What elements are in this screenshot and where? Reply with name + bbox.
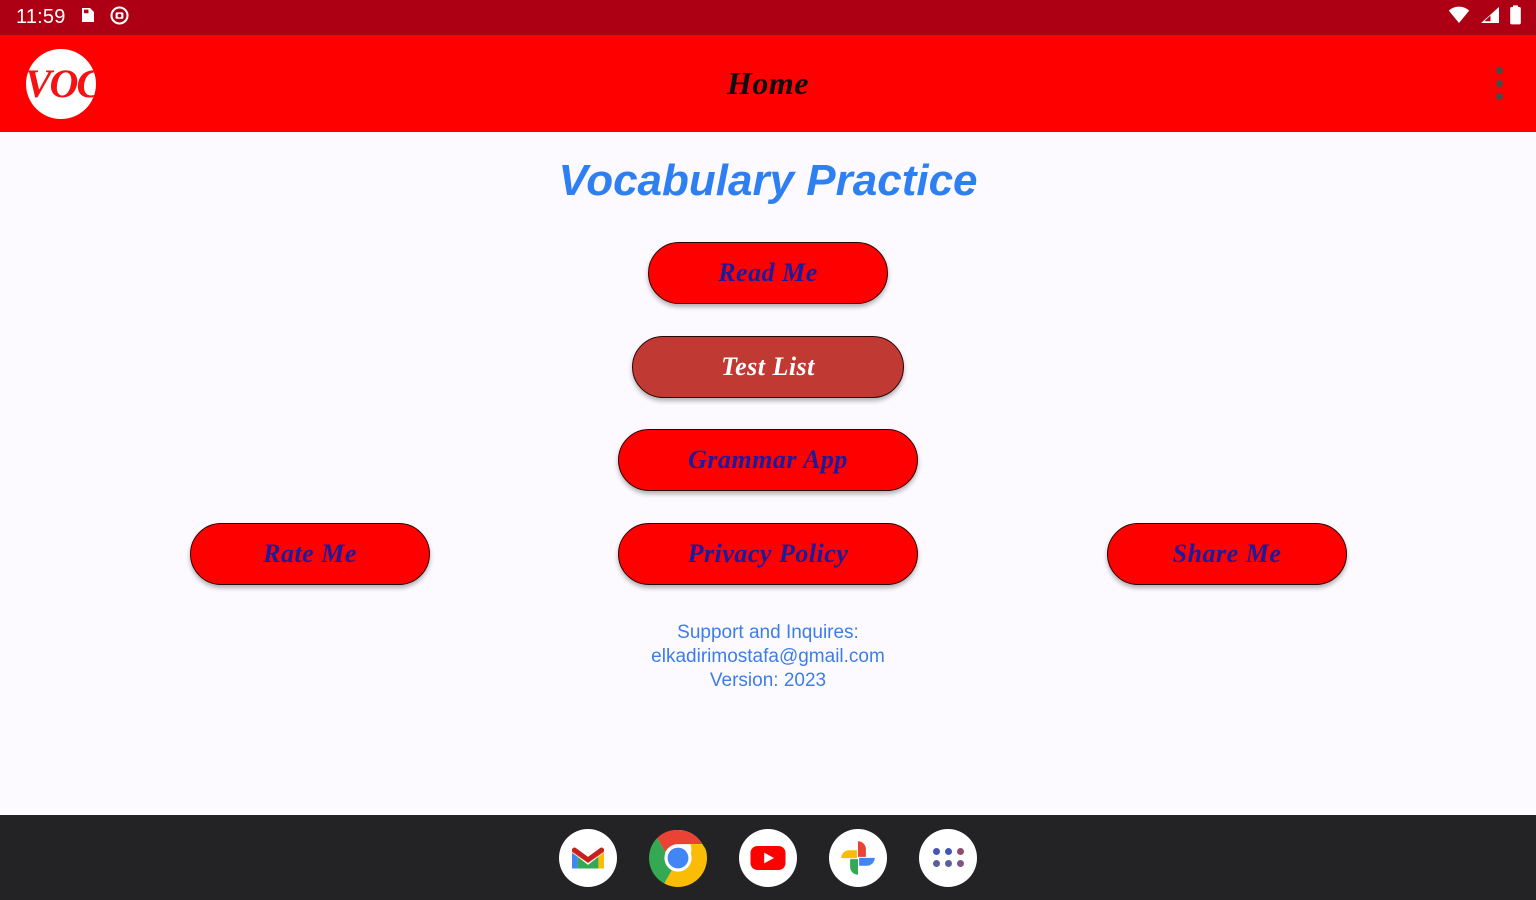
- rate-me-button[interactable]: Rate Me: [190, 523, 430, 585]
- app-logo-label: VOC: [26, 60, 96, 107]
- support-line-label: Support and Inquires:: [0, 621, 1536, 645]
- status-bar: 11:59: [0, 0, 1536, 35]
- device-screen: 11:59: [0, 0, 1536, 900]
- page-title: Home: [0, 65, 1536, 102]
- grammar-app-button[interactable]: Grammar App: [618, 429, 918, 491]
- overflow-dot-1: [1496, 67, 1503, 74]
- app-bar: VOC Home: [0, 35, 1536, 132]
- google-photos-icon[interactable]: [829, 829, 887, 887]
- read-me-row: Read Me: [0, 242, 1536, 304]
- app-heading: Vocabulary Practice: [0, 156, 1536, 206]
- signal-icon: [1479, 6, 1500, 29]
- camera-icon: [110, 6, 129, 30]
- bottom-button-row: Rate Me Privacy Policy Share Me: [0, 523, 1536, 585]
- overflow-menu-button[interactable]: [1482, 59, 1516, 109]
- share-me-button[interactable]: Share Me: [1107, 523, 1347, 585]
- chrome-icon[interactable]: [649, 829, 707, 887]
- app-drawer-icon[interactable]: [919, 829, 977, 887]
- test-list-button[interactable]: Test List: [632, 336, 904, 398]
- status-bar-right: [1448, 5, 1522, 30]
- grammar-app-row: Grammar App: [0, 429, 1536, 491]
- app-version: Version: 2023: [0, 669, 1536, 693]
- support-email: elkadirimostafa@gmail.com: [0, 645, 1536, 669]
- sd-card-icon: [79, 6, 97, 29]
- status-clock: 11:59: [16, 6, 66, 29]
- youtube-icon[interactable]: [739, 829, 797, 887]
- overflow-dot-3: [1496, 93, 1503, 100]
- read-me-button[interactable]: Read Me: [648, 242, 888, 304]
- status-bar-left: 11:59: [16, 6, 129, 30]
- wifi-icon: [1448, 6, 1470, 29]
- app-drawer-dots: [933, 848, 964, 867]
- overflow-dot-2: [1496, 80, 1503, 87]
- privacy-policy-button[interactable]: Privacy Policy: [618, 523, 918, 585]
- test-list-row: Test List: [0, 336, 1536, 398]
- main-content: Vocabulary Practice Read Me Test List Gr…: [0, 132, 1536, 815]
- battery-icon: [1509, 5, 1522, 30]
- support-info: Support and Inquires: elkadirimostafa@gm…: [0, 621, 1536, 693]
- app-logo[interactable]: VOC: [26, 49, 96, 119]
- system-nav-bar: [0, 815, 1536, 900]
- gmail-icon[interactable]: [559, 829, 617, 887]
